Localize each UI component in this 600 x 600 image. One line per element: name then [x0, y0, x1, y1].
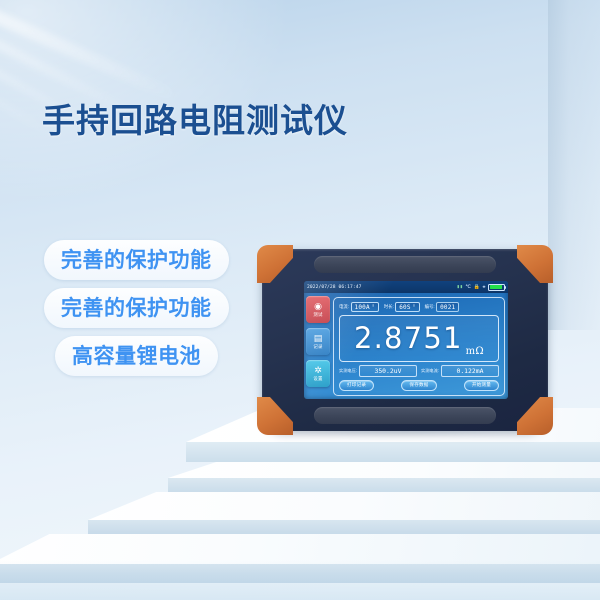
- measurement-value: 350.2uV: [359, 365, 417, 377]
- start-measure-button[interactable]: 开始测量: [464, 380, 499, 391]
- parameter-duration[interactable]: 时长: 60S ⬍: [384, 302, 420, 312]
- slab-top: [88, 492, 600, 520]
- stepper-icon[interactable]: ⬍: [372, 305, 375, 309]
- feature-badge: 高容量锂电池: [55, 336, 218, 376]
- parameter-text: 0021: [440, 304, 455, 311]
- measurement-label: 实测电压:: [339, 368, 357, 374]
- status-icon-group: ▮▮ ℃ 🔒 ✚: [457, 284, 505, 291]
- sidebar-item-record[interactable]: ▤ 记录: [306, 328, 330, 355]
- floor-shading: [0, 560, 600, 600]
- sidebar-item-label: 记录: [313, 344, 322, 350]
- parameter-text: 60S: [399, 304, 410, 311]
- light-streak: [0, 0, 182, 104]
- parameter-row: 电流: 100A ⬍ 时长: 60S ⬍ 编号:: [339, 302, 499, 312]
- page-title: 手持回路电阻测试仪: [42, 94, 348, 142]
- bluetooth-icon: ✚: [482, 285, 485, 290]
- sidebar-item-test[interactable]: ◉ 测试: [306, 296, 330, 323]
- slab-face: [168, 478, 600, 493]
- record-icon: ▤: [314, 334, 323, 343]
- signal-icon: ▮▮: [457, 285, 463, 290]
- wall-seam: [548, 0, 600, 330]
- sidebar-item-setup[interactable]: ✲ 设置: [306, 360, 330, 387]
- product-scene: 手持回路电阻测试仪 完善的保护功能 完善的保护功能 高容量锂电池: [0, 0, 600, 600]
- feature-badge: 完善的保护功能: [44, 288, 229, 328]
- measurement-value: 0.122mA: [441, 365, 499, 377]
- save-data-button[interactable]: 保存数据: [401, 380, 436, 391]
- feature-badge: 完善的保护功能: [44, 240, 229, 280]
- feature-badge-list: 完善的保护功能 完善的保护功能 高容量锂电池: [44, 240, 229, 376]
- parameter-current[interactable]: 电流: 100A ⬍: [339, 302, 379, 312]
- sidebar-item-label: 测试: [313, 312, 322, 318]
- reading-unit: mΩ: [466, 346, 484, 357]
- battery-fill: [490, 285, 503, 289]
- status-bar: 2022/07/28 06:17:47 ▮▮ ℃ 🔒 ✚: [304, 281, 508, 293]
- measured-current: 实测电流: 0.122mA: [421, 365, 499, 377]
- battery-icon: [488, 284, 505, 291]
- parameter-value[interactable]: 100A ⬍: [351, 302, 379, 312]
- podium-slab-middle: [88, 492, 600, 536]
- parameter-text: 100A: [355, 304, 370, 311]
- primary-reading: 2.8751 mΩ: [339, 315, 499, 362]
- device-lcd-screen[interactable]: 2022/07/28 06:17:47 ▮▮ ℃ 🔒 ✚ ◉ 测试 ▤ 记录: [304, 281, 508, 399]
- parameter-value: 0021: [436, 302, 459, 312]
- parameter-value[interactable]: 60S ⬍: [395, 302, 419, 312]
- secondary-measurement-row: 实测电压: 350.2uV 实测电流: 0.122mA: [339, 365, 499, 377]
- lock-icon: 🔒: [474, 285, 480, 290]
- measurement-panel: 电流: 100A ⬍ 时长: 60S ⬍ 编号:: [333, 297, 505, 396]
- parameter-label: 时长:: [384, 304, 394, 310]
- parameter-label: 编号:: [425, 304, 435, 310]
- measured-voltage: 实测电压: 350.2uV: [339, 365, 417, 377]
- parameter-serial: 编号: 0021: [425, 302, 460, 312]
- plinth-face: [186, 442, 600, 462]
- parameter-label: 电流:: [339, 304, 349, 310]
- action-button-row: 打印记录 保存数据 开始测量: [339, 380, 499, 391]
- grip-bar-top: [314, 256, 496, 273]
- handheld-tester-device: 2022/07/28 06:17:47 ▮▮ ℃ 🔒 ✚ ◉ 测试 ▤ 记录: [262, 249, 548, 431]
- reading-value: 2.8751: [354, 324, 463, 353]
- gear-icon: ✲: [314, 366, 322, 375]
- grip-bar-bottom: [314, 407, 496, 424]
- stepper-icon[interactable]: ⬍: [413, 305, 416, 309]
- sidebar-item-label: 设置: [313, 376, 322, 382]
- print-record-button[interactable]: 打印记录: [339, 380, 374, 391]
- sidebar-rail: ◉ 测试 ▤ 记录 ✲ 设置: [306, 296, 330, 387]
- measurement-label: 实测电流:: [421, 368, 439, 374]
- test-icon: ◉: [314, 302, 322, 311]
- status-datetime: 2022/07/28 06:17:47: [307, 285, 361, 290]
- temperature-icon: ℃: [465, 285, 471, 290]
